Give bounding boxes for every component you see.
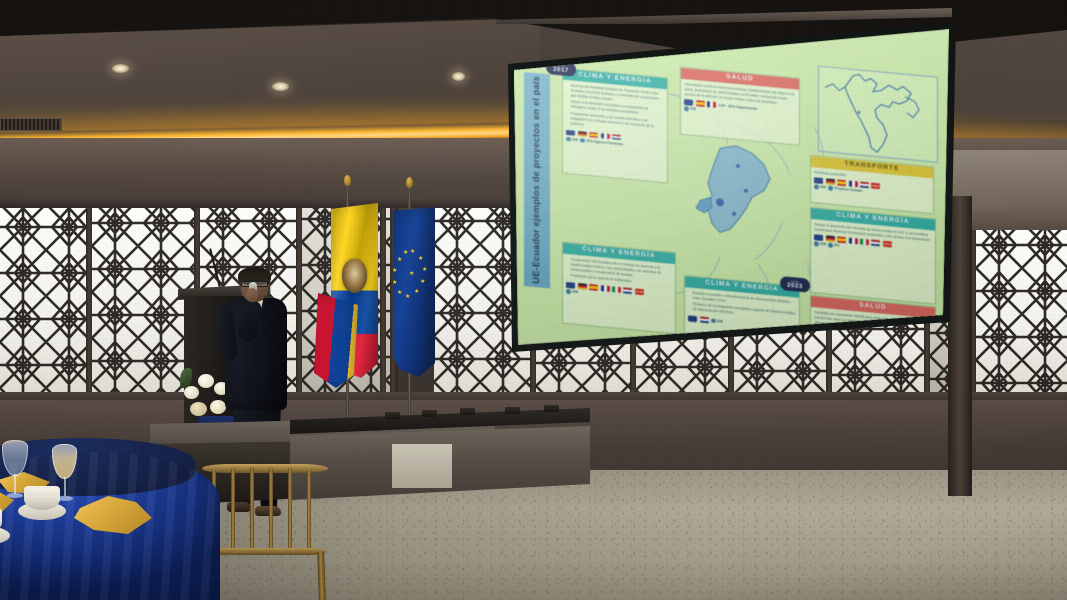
eu-star-icon: ★ <box>397 290 402 296</box>
slide-box-salud-top-center: SALUD Vacunación contra el nuevo coronav… <box>680 67 800 146</box>
eu-flag-logo-icon <box>814 177 823 183</box>
logo-mark-icon <box>814 334 819 339</box>
germany-flag-logo-icon <box>578 283 587 289</box>
switzerland-flag-logo-icon <box>871 183 880 189</box>
eu-flag-logo-icon <box>566 130 575 136</box>
chair-spindle <box>250 467 254 552</box>
idb-logo: IDB <box>566 289 578 295</box>
germany-flag-logo-icon <box>826 236 835 242</box>
eu-star-icon: ★ <box>403 250 408 256</box>
switzerland-flag-logo-icon <box>883 241 892 247</box>
idb-logo: IDB <box>566 137 578 143</box>
slide-box-clima-energia-right: CLIMA Y ENERGÍA Apoyar el desarrollo del… <box>810 207 936 305</box>
spain-flag-logo-icon <box>589 132 598 138</box>
table-nameplate <box>460 408 475 415</box>
juice-glass <box>52 444 77 504</box>
eu-flag-logo-icon <box>684 99 693 105</box>
germany-flag-logo-icon <box>578 131 587 137</box>
eu-flag-logo-icon <box>566 282 575 288</box>
switzerland-flag-logo-icon <box>635 289 644 295</box>
logo-mark-icon <box>580 138 585 143</box>
eu-star-icon: ★ <box>392 280 397 286</box>
ceiling-air-vent <box>0 118 62 131</box>
france-flag-logo-icon <box>849 238 858 244</box>
france-flag-logo-icon <box>707 101 716 107</box>
lattice-window-panel <box>0 204 86 400</box>
logo-mark-icon <box>814 241 819 246</box>
eu-star-icon: ★ <box>410 249 415 255</box>
logo-mark-icon <box>828 243 833 248</box>
foreground-banquet-table <box>0 430 220 600</box>
france-flag-logo-icon <box>601 133 610 139</box>
flagpole-finial-icon <box>344 175 351 186</box>
glass-stem <box>14 474 16 494</box>
spain-flag-logo-icon <box>696 100 705 106</box>
screenshot-root: ★ ★ ★ ★ ★ ★ ★ ★ ★ ★ ★ ★ <box>0 0 1067 600</box>
logo-mark-icon <box>814 184 819 189</box>
italy-flag-logo-icon <box>612 287 621 293</box>
chair-spindle <box>231 468 235 552</box>
eu-star-icon: ★ <box>422 267 427 273</box>
eu-flag-logo-icon <box>814 234 823 240</box>
projection-screen: UE-Ecuador ejemplos de proyectos en el p… <box>486 22 956 352</box>
ceiling-downlight <box>112 64 129 73</box>
ceiling-downlight <box>452 72 465 81</box>
glass-bowl <box>52 444 77 479</box>
logo-mark-icon <box>828 336 833 341</box>
glass-bowl <box>2 440 28 476</box>
eu-flag-logo-icon <box>688 316 697 322</box>
glass-stem <box>64 477 66 496</box>
table-nameplate <box>385 412 400 419</box>
slide-box-logo-labels: IDB OPS Organización <box>811 332 935 350</box>
lattice-screen-pattern-icon <box>0 204 86 400</box>
flower-foliage <box>180 368 192 388</box>
presentation-slide: UE-Ecuador ejemplos de proyectos en el p… <box>514 29 950 352</box>
spain-flag-logo-icon <box>837 180 846 186</box>
ops-logo: OPS Organización <box>828 336 863 344</box>
spain-flag-logo-icon <box>837 237 846 243</box>
idb-logo: IDB <box>814 184 826 190</box>
eu-star-icon: ★ <box>392 268 397 274</box>
lattice-window-panel <box>976 222 1067 398</box>
presenter-hand <box>246 288 258 302</box>
eu-star-icon: ★ <box>405 294 410 300</box>
france-flag-logo-icon <box>601 285 610 291</box>
water-glass <box>2 440 28 502</box>
glass-foot <box>57 496 73 501</box>
flag-group: ★ ★ ★ ★ ★ ★ ★ ★ ★ ★ ★ ★ <box>300 185 450 445</box>
eu-star-icon: ★ <box>420 279 425 285</box>
idb-logo: IDB <box>684 106 696 112</box>
chair-spindle <box>307 470 311 552</box>
netherlands-flag-logo-icon <box>623 288 632 294</box>
italy-flag-logo-icon <box>860 239 869 245</box>
ifc-logo: IFC <box>828 243 839 249</box>
table-nameplate <box>505 407 520 414</box>
glass-foot <box>7 493 24 498</box>
european-union-flag: ★ ★ ★ ★ ★ ★ ★ ★ ★ ★ ★ ★ <box>393 207 435 377</box>
germany-flag-logo-icon <box>826 179 835 185</box>
eu-star-icon: ★ <box>418 256 423 262</box>
ecuador-coat-of-arms-icon <box>342 259 367 293</box>
ecuador-flag-second <box>314 293 358 388</box>
logo-mark-icon <box>566 137 571 142</box>
chair-mid-rail <box>206 548 326 555</box>
logo-mark-icon <box>684 106 689 111</box>
eu-star-icon: ★ <box>397 257 402 263</box>
flower-bloom <box>184 386 199 399</box>
logo-mark-icon <box>828 186 833 191</box>
lattice-screen-pattern-icon <box>976 222 1067 398</box>
chiavari-chair <box>200 462 340 600</box>
spain-flag-logo-icon <box>589 284 598 290</box>
logo-mark-icon <box>711 318 716 323</box>
netherlands-flag-logo-icon <box>871 240 880 246</box>
france-flag-logo-icon <box>849 181 858 187</box>
flagpole-finial-icon <box>406 177 413 188</box>
chair-leg <box>317 552 326 600</box>
table-nameplate <box>422 410 437 417</box>
eu-star-icon: ★ <box>409 271 414 277</box>
logo-mark-icon <box>566 289 571 294</box>
slide-box-clima-energia-bottom-left: CLIMA Y ENERGÍA Cooperación UE-Ecuador p… <box>562 242 676 335</box>
table-nameplate <box>544 405 559 412</box>
slide-box-clima-energia-top-left: CLIMA Y ENERGÍA Acuerdo de Facilidad Eur… <box>562 68 668 184</box>
idb-logo: IDB <box>814 334 826 340</box>
ceiling-downlight <box>272 82 289 91</box>
year-badge-2023: Desde 2023 <box>780 276 810 293</box>
caf-logo: CAF <box>719 103 726 108</box>
floor-equipment-box <box>392 444 452 488</box>
chair-spindle <box>288 468 292 552</box>
netherlands-flag-logo-icon <box>860 182 869 188</box>
idb-logo: IDB <box>814 241 826 247</box>
netherlands-flag-logo-icon <box>700 317 709 323</box>
projection-screen-surface: UE-Ecuador ejemplos de proyectos en el p… <box>486 22 956 352</box>
chair-spindle <box>269 467 273 552</box>
idb-logo: IDB <box>711 318 723 324</box>
netherlands-flag-logo-icon <box>612 134 621 140</box>
eu-star-icon: ★ <box>414 289 419 295</box>
